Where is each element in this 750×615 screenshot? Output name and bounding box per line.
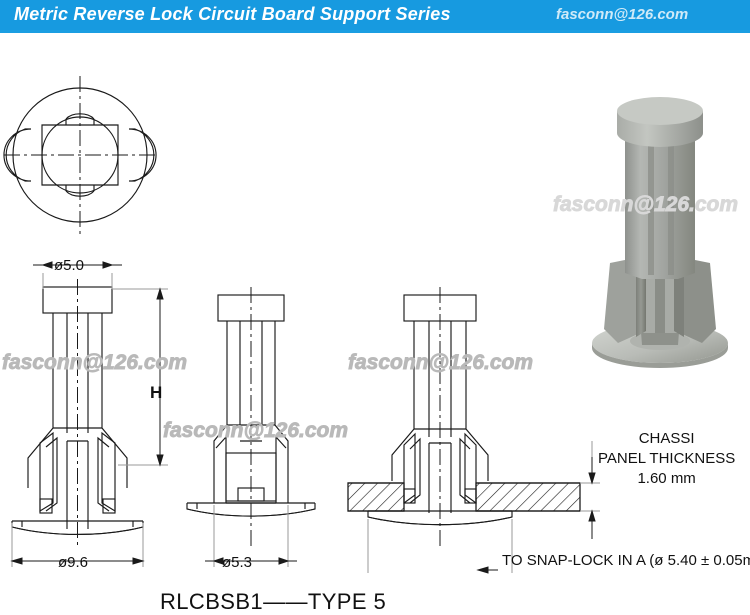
dimension-label-base-diameter: ø9.6 xyxy=(58,554,88,571)
header-email: fasconn@126.com xyxy=(556,6,688,23)
part-caption: RLCBSB1——TYPE 5 xyxy=(160,589,386,615)
chassis-note: CHASSI PANEL THICKNESS 1.60 mm xyxy=(598,429,735,489)
chassis-note-line3: 1.60 mm xyxy=(598,469,735,489)
dimension-label-height: H xyxy=(150,383,162,403)
chassis-note-line1: CHASSI xyxy=(598,429,735,449)
snap-lock-note: TO SNAP-LOCK IN A (ø 5.40 ± 0.05mm) DIA.… xyxy=(502,551,750,571)
product-3d-render xyxy=(592,97,728,368)
snap-lock-note-line1: TO SNAP-LOCK IN xyxy=(502,552,633,569)
snap-lock-note-line2: A (ø 5.40 ± 0.05mm) xyxy=(636,552,750,569)
drawing-page: Metric Reverse Lock Circuit Board Suppor… xyxy=(0,0,750,598)
chassis-panel-section xyxy=(348,483,580,511)
chassis-note-line2: PANEL THICKNESS xyxy=(598,449,735,469)
dimension-panel-thickness xyxy=(580,441,600,539)
drawing-canvas: ø5.0 H ø9.6 ø5.3 CHASSI PANEL THICKNESS … xyxy=(0,33,750,598)
technical-drawing-svg xyxy=(0,33,750,598)
dimension-label-locked-diameter: ø5.3 xyxy=(222,554,252,571)
top-view-centerlines xyxy=(4,76,158,236)
dimension-height xyxy=(112,289,168,465)
header-title: Metric Reverse Lock Circuit Board Suppor… xyxy=(14,4,451,25)
dimension-label-top-diameter: ø5.0 xyxy=(54,257,84,274)
page-header: Metric Reverse Lock Circuit Board Suppor… xyxy=(0,0,750,30)
